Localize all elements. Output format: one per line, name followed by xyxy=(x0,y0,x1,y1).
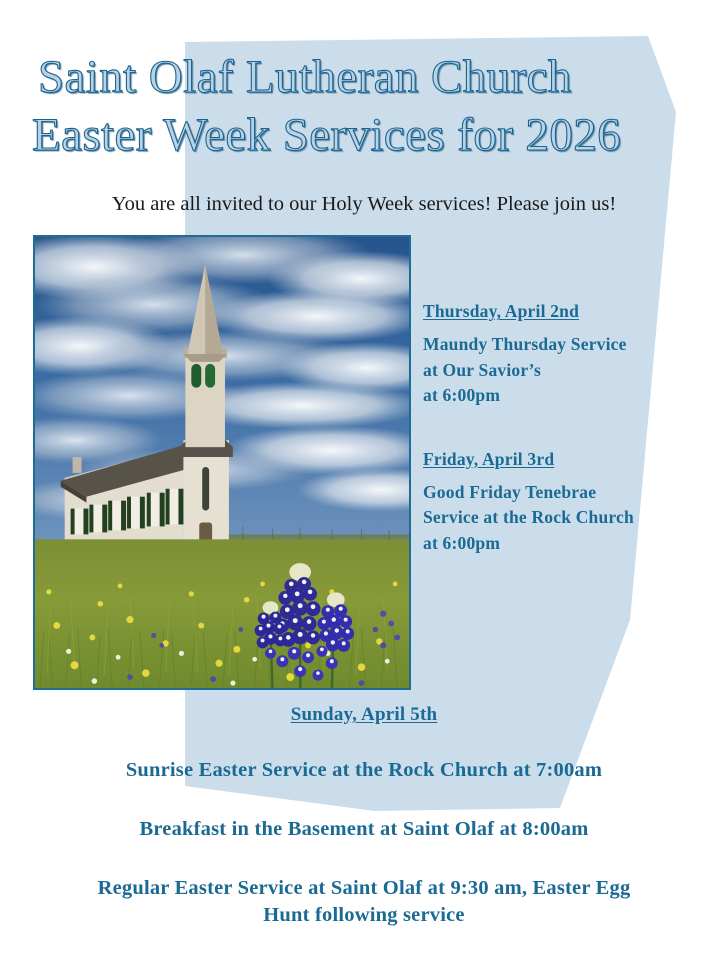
church-in-wildflower-meadow-photo xyxy=(35,237,409,688)
title-line-2: Easter Week Services for 2026 xyxy=(0,106,728,164)
title-line-1: Saint Olaf Lutheran Church xyxy=(0,48,728,106)
sunday-line-regular-service-a: Regular Easter Service at Saint Olaf at … xyxy=(0,875,728,902)
sunday-line-breakfast: Breakfast in the Basement at Saint Olaf … xyxy=(0,816,728,843)
church-photo xyxy=(33,235,411,690)
page-title: Saint Olaf Lutheran Church Easter Week S… xyxy=(0,48,728,164)
schedule-detail-thursday: Maundy Thursday Service at Our Savior’s … xyxy=(423,332,713,409)
schedule-spacer xyxy=(423,409,713,447)
sunday-line-sunrise: Sunrise Easter Service at the Rock Churc… xyxy=(0,757,728,784)
schedule-heading-sunday: Sunday, April 5th xyxy=(0,704,728,726)
sunday-line-regular-service-b: Hunt following service xyxy=(0,902,728,929)
schedule-line: at Our Savior’s xyxy=(423,358,713,384)
weekday-schedule: Thursday, April 2nd Maundy Thursday Serv… xyxy=(423,299,713,556)
schedule-line: Service at the Rock Church xyxy=(423,505,713,531)
sunday-line-regular-service: Regular Easter Service at Saint Olaf at … xyxy=(0,875,728,929)
sunday-schedule: Sunday, April 5th Sunrise Easter Service… xyxy=(0,704,728,929)
schedule-heading-friday: Friday, April 3rd xyxy=(423,447,713,472)
schedule-line: at 6:00pm xyxy=(423,531,713,557)
schedule-detail-friday: Good Friday Tenebrae Service at the Rock… xyxy=(423,480,713,557)
schedule-entry-thursday: Thursday, April 2nd Maundy Thursday Serv… xyxy=(423,299,713,409)
schedule-entry-friday: Friday, April 3rd Good Friday Tenebrae S… xyxy=(423,447,713,557)
schedule-line: Maundy Thursday Service xyxy=(423,332,713,358)
schedule-line: Good Friday Tenebrae xyxy=(423,480,713,506)
invitation-subtitle: You are all invited to our Holy Week ser… xyxy=(0,193,728,216)
schedule-line: at 6:00pm xyxy=(423,383,713,409)
easter-services-flyer: Saint Olaf Lutheran Church Easter Week S… xyxy=(0,0,728,953)
schedule-heading-thursday: Thursday, April 2nd xyxy=(423,299,713,324)
